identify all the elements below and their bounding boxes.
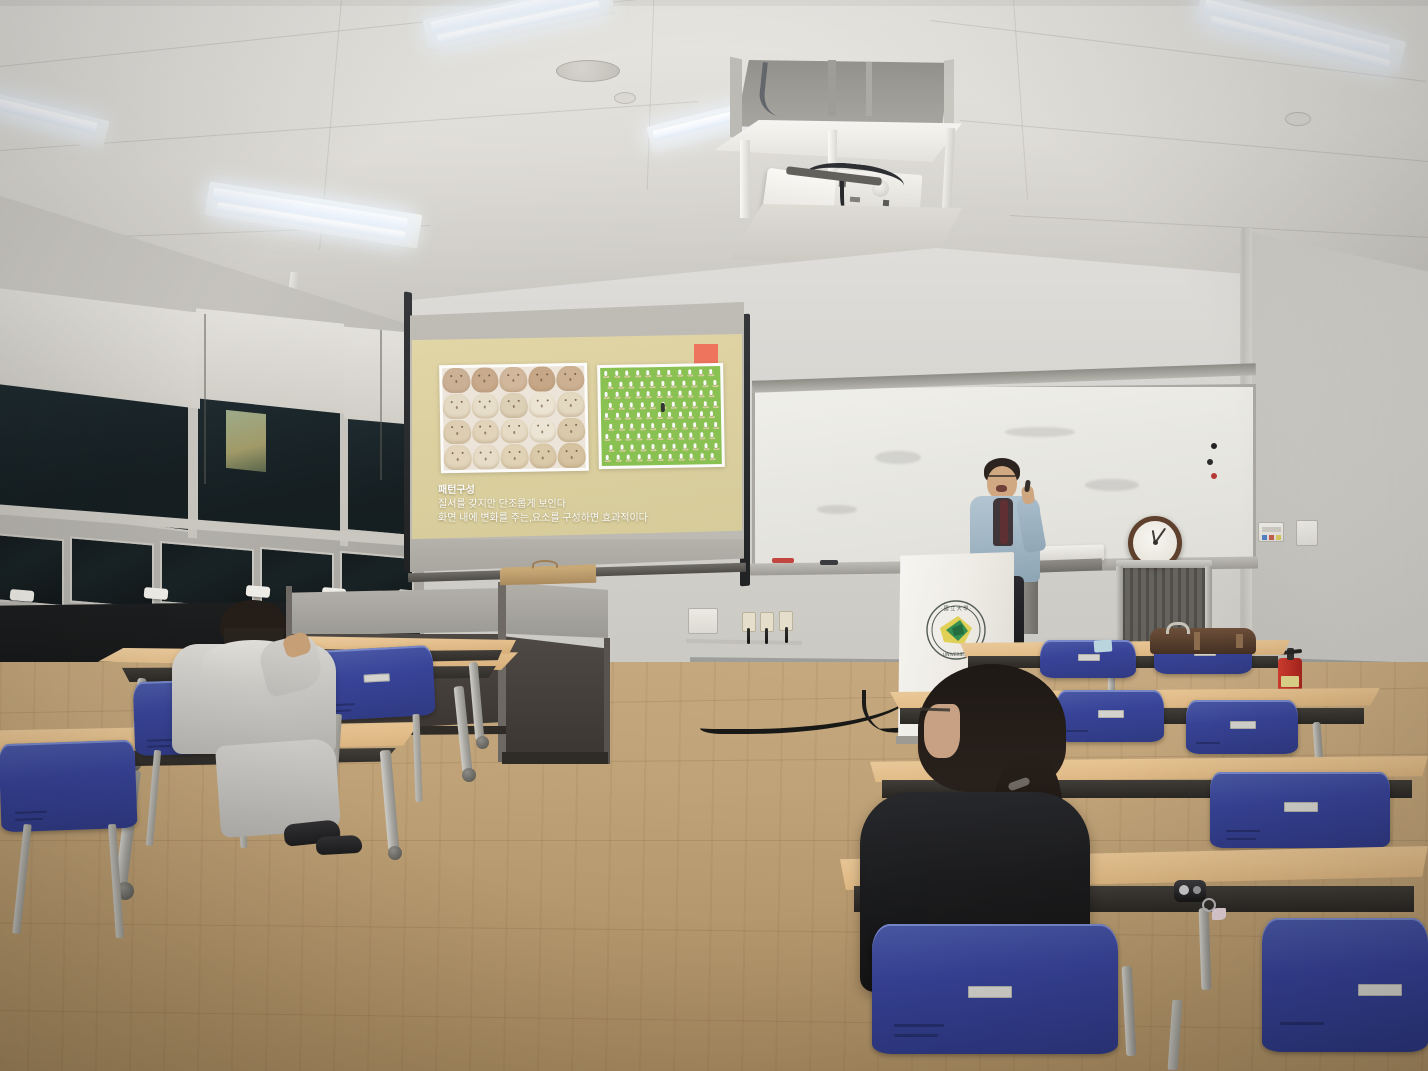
ceiling-sensor (614, 92, 636, 104)
crowd-mat (649, 386, 655, 388)
crowd-mat (713, 405, 719, 407)
chair-vent (1280, 1022, 1324, 1025)
ceiling-projector-lift (700, 52, 990, 267)
chair[interactable] (1262, 918, 1428, 1071)
window-sash (70, 536, 154, 609)
crowd-mat (636, 438, 642, 440)
whiteboard-smudge (875, 451, 921, 464)
crowd-mat (636, 459, 642, 461)
crowd-person (657, 391, 660, 396)
crowd-person (667, 370, 670, 375)
crowd-mat (702, 406, 708, 408)
crowd-mat (691, 385, 697, 387)
projection-screen-assembly: 패턴구성 질서를 갖지만 단조롭게 보인다 화면 내에 변화를 주는,요소를 구… (404, 292, 750, 592)
crowd-person (699, 390, 702, 395)
crowd-mat (693, 448, 699, 450)
crowd-mat (657, 417, 663, 419)
bun (443, 394, 471, 419)
crowd-person (609, 402, 612, 407)
crowd-person (641, 423, 644, 428)
crowd-person (710, 390, 713, 395)
crowd-person (689, 390, 692, 395)
slide-line-2: 질서를 갖지만 단조롭게 보인다 (438, 498, 566, 512)
crowd-mat (677, 396, 683, 398)
crowd-mat (629, 428, 635, 430)
crowd-person (671, 380, 674, 385)
panel-button[interactable] (1276, 535, 1281, 540)
crowd-person (688, 369, 691, 374)
crowd-mat (709, 437, 715, 439)
crowd-mat (615, 439, 621, 441)
wall-access-panel[interactable] (688, 608, 718, 634)
crowd-mat (688, 437, 694, 439)
whiteboard-marker[interactable] (820, 560, 838, 565)
clock-face (1133, 521, 1177, 565)
crowd-mat (678, 417, 684, 419)
panel-display (1262, 527, 1281, 532)
chair-vent (15, 818, 43, 821)
crowd-person (661, 380, 664, 385)
bun (528, 366, 556, 391)
crowd-person (700, 453, 703, 458)
crowd-mat (699, 437, 705, 439)
crowd-mat (645, 375, 651, 377)
crowd-mat (678, 459, 684, 461)
crowd-mat (713, 426, 719, 428)
crowd-mat (702, 385, 708, 387)
cabinet-panel (502, 582, 608, 638)
window-pane-upper (346, 409, 412, 537)
bun (528, 392, 556, 417)
crowd-person (692, 380, 695, 385)
panel-button[interactable] (1262, 535, 1267, 540)
blind-cord (204, 314, 206, 484)
window-exterior-light (226, 410, 266, 472)
crowd-person (700, 432, 703, 437)
crowd-person (703, 380, 706, 385)
wall-control-panel[interactable] (1258, 522, 1284, 542)
bun (471, 393, 499, 418)
lift-post (740, 140, 750, 218)
chair-label (1358, 984, 1402, 996)
classroom-photo: 패턴구성 질서를 갖지만 단조롭게 보인다 화면 내에 변화를 주는,요소를 구… (0, 0, 1428, 1071)
window-handle[interactable] (144, 587, 169, 600)
rack-top-bar (1116, 560, 1212, 568)
crowd-person (669, 454, 672, 459)
crowd-person (709, 369, 712, 374)
crowd-person (605, 413, 608, 418)
whiteboard-smudge (1005, 427, 1075, 437)
crowd-mat (639, 386, 645, 388)
crowd-person (693, 422, 696, 427)
crowd-mat (640, 449, 646, 451)
crowd-mat (666, 375, 672, 377)
crowd-person (658, 454, 661, 459)
crowd-mat (639, 407, 645, 409)
crowd-person (619, 381, 622, 386)
bun (557, 417, 585, 442)
chair-backrest[interactable] (0, 740, 137, 833)
leather-bag (1150, 622, 1256, 654)
projected-slide: 패턴구성 질서를 갖지만 단조롭게 보인다 화면 내에 변화를 주는,요소를 구… (412, 334, 742, 539)
crowd-mat (689, 458, 695, 460)
crowd-person (626, 392, 629, 397)
crowd-mat (608, 428, 614, 430)
projection-screen-surface: 패턴구성 질서를 갖지만 단조롭게 보인다 화면 내에 변화를 주는,요소를 구… (410, 302, 744, 572)
crowd-mat (626, 460, 632, 462)
chair-vent (1196, 742, 1220, 744)
whiteboard-magnet[interactable] (1211, 443, 1217, 449)
key-fob-button[interactable] (1193, 886, 1201, 894)
crowd-person (668, 412, 671, 417)
chair-leg (412, 714, 422, 802)
chair-vent (1226, 830, 1260, 832)
crowd-mat (619, 428, 625, 430)
chair-backrest[interactable] (1186, 700, 1298, 754)
outlet-cable (747, 628, 750, 644)
crowd-person (609, 444, 612, 449)
crowd-mat (671, 406, 677, 408)
bag-strap (1236, 634, 1243, 648)
crowd-person (662, 443, 665, 448)
crowd-mat (703, 427, 709, 429)
glasses-icon (920, 707, 950, 713)
crowd-person (690, 453, 693, 458)
student-shoe (316, 835, 363, 855)
crowd-mat (681, 406, 687, 408)
bun (442, 368, 470, 393)
crowd-mat (667, 438, 673, 440)
crowd-person (657, 412, 660, 417)
crowd-mat (647, 459, 653, 461)
crowd-person (678, 391, 681, 396)
desk-leg (1199, 908, 1212, 990)
chair-vent (15, 811, 47, 814)
bun (472, 419, 500, 444)
lecturer-mouth (996, 485, 1007, 492)
key-charm (1212, 908, 1226, 920)
ceiling-sensor (1285, 112, 1311, 126)
crowd-person (637, 433, 640, 438)
desk-caster (388, 846, 402, 860)
crowd-person (679, 454, 682, 459)
chair-backrest[interactable] (1210, 772, 1390, 848)
crowd-person (636, 391, 639, 396)
chair-vent (894, 1034, 938, 1037)
slide-image-buns (439, 363, 589, 474)
student-in-grey-hoodie (166, 600, 366, 862)
crowd-person (619, 402, 622, 407)
crowd-person (640, 402, 643, 407)
bun (443, 419, 471, 444)
crowd-person (647, 391, 650, 396)
crowd-person (699, 411, 702, 416)
crowd-mat (709, 416, 715, 418)
crowd-mat (603, 376, 609, 378)
crowd-mat (615, 460, 621, 462)
crowd-mat (609, 449, 615, 451)
crowd-person (646, 370, 649, 375)
crowd-person (651, 444, 654, 449)
desk-item (1094, 639, 1113, 652)
crowd-mat (605, 460, 611, 462)
crowd-mat (661, 448, 667, 450)
whiteboard-smudge (817, 505, 857, 514)
crowd-person (679, 433, 682, 438)
crowd-mat (661, 427, 667, 429)
chair-leg (12, 824, 31, 934)
crowd-mat (630, 449, 636, 451)
crowd-person (657, 370, 660, 375)
crowd-person (658, 433, 661, 438)
crowd-person (704, 422, 707, 427)
bun (557, 392, 585, 417)
crowd-person (710, 432, 713, 437)
crowd-mat (646, 417, 652, 419)
bun (471, 367, 499, 392)
crowd-person (615, 392, 618, 397)
crowd-person (641, 444, 644, 449)
desk-leg (469, 662, 485, 740)
crowd-mat (698, 374, 704, 376)
crowd-mat (657, 438, 663, 440)
crowd-mat (629, 407, 635, 409)
bun (556, 366, 584, 391)
lift-strut (866, 62, 872, 116)
crowd-mat (656, 396, 662, 398)
crowd-mat (671, 427, 677, 429)
chair-backrest[interactable] (1262, 918, 1428, 1052)
crowd-person (636, 412, 639, 417)
crowd-mat (604, 439, 610, 441)
window-handle[interactable] (10, 589, 35, 602)
crowd-mat (608, 407, 614, 409)
cabinet-corner-post (604, 638, 610, 764)
bag-strap (1194, 632, 1200, 650)
crowd-person (714, 443, 717, 448)
crowd-mat (625, 418, 631, 420)
crowd-mat (692, 406, 698, 408)
crowd-person (609, 423, 612, 428)
crowd-person (713, 380, 716, 385)
crowd-mat (682, 427, 688, 429)
crowd-mat (618, 407, 624, 409)
chair-label (1078, 654, 1100, 661)
crowd-mat (651, 449, 657, 451)
crowd-mat (699, 416, 705, 418)
crowd-person (672, 401, 675, 406)
bun (472, 445, 500, 470)
bun (558, 443, 586, 468)
crowd-mat (625, 439, 631, 441)
crowd-person (678, 412, 681, 417)
crowd-mat (710, 458, 716, 460)
crowd-mat (712, 384, 718, 386)
crowd-mat (656, 375, 662, 377)
desk-caster (476, 736, 489, 749)
crowd-mat (619, 449, 625, 451)
crowd-person (651, 402, 654, 407)
chair[interactable] (872, 924, 1122, 1071)
whiteboard-marker[interactable] (772, 558, 794, 563)
outlet-cable (785, 627, 788, 643)
crowd-person (640, 381, 643, 386)
crowd-mat (636, 417, 642, 419)
crowd-person (626, 434, 629, 439)
crowd-person (605, 434, 608, 439)
crowd-mat (628, 386, 634, 388)
crowd-mat (698, 395, 704, 397)
crowd-mat (667, 396, 673, 398)
crowd-person (672, 422, 675, 427)
crowd-mat (687, 374, 693, 376)
window-handle[interactable] (246, 585, 271, 598)
chair[interactable] (0, 742, 140, 962)
bun (499, 367, 527, 392)
crowd-person (647, 433, 650, 438)
bun (501, 444, 529, 469)
slide-heading: 패턴구성 (438, 484, 475, 498)
crowd-person (636, 370, 639, 375)
crowd-mat (615, 418, 621, 420)
crowd-mat (708, 374, 714, 376)
chair-leg (108, 824, 124, 938)
chair-label (364, 673, 390, 682)
crowd-person (683, 422, 686, 427)
crowd-standout-person (661, 403, 665, 412)
bun (443, 445, 471, 470)
crowd-person (711, 453, 714, 458)
bag-handle (1166, 622, 1190, 634)
crowd-person (620, 423, 623, 428)
crowd-person (630, 423, 633, 428)
crowd-person (615, 371, 618, 376)
crowd-person (678, 370, 681, 375)
whiteboard-magnet[interactable] (1207, 459, 1213, 465)
crowd-person (689, 432, 692, 437)
crowd-mat (618, 386, 624, 388)
crowd-mat (625, 397, 631, 399)
slide-image-crowd (597, 363, 725, 469)
lift-frame-post (730, 57, 742, 140)
crowd-mat (640, 428, 646, 430)
desk-caster (462, 768, 476, 782)
lift-shelf (714, 120, 962, 162)
crowd-mat (624, 376, 630, 378)
crowd-person (668, 433, 671, 438)
crowd-person (650, 381, 653, 386)
crowd-person (689, 411, 692, 416)
whiteboard-smudge (1085, 479, 1139, 491)
whiteboard-magnet[interactable] (1211, 473, 1217, 479)
crowd-mat (667, 417, 673, 419)
bun (529, 418, 557, 443)
crowd-mat (709, 395, 715, 397)
crowd-person (605, 392, 608, 397)
crowd-mat (650, 407, 656, 409)
cardboard-tray (500, 567, 596, 586)
crowd-mat (635, 396, 641, 398)
crowd-person (710, 411, 713, 416)
crowd-mat (650, 428, 656, 430)
crowd-mat (672, 448, 678, 450)
crowd-mat (635, 375, 641, 377)
crowd-person (693, 443, 696, 448)
crowd-mat (607, 386, 613, 388)
crowd-mat (703, 448, 709, 450)
crowd-person (630, 444, 633, 449)
crowd-mat (657, 459, 663, 461)
blind-cord (380, 330, 382, 480)
crowd-person (703, 401, 706, 406)
chair-vent (894, 1024, 944, 1027)
crowd-mat (668, 459, 674, 461)
crowd-person (651, 423, 654, 428)
crowd-field (600, 366, 722, 466)
crowd-mat (646, 396, 652, 398)
crowd-person (693, 401, 696, 406)
chair-label (968, 986, 1012, 998)
crowd-mat (688, 395, 694, 397)
crowd-person (714, 401, 717, 406)
panel-button[interactable] (1269, 535, 1274, 540)
crowd-person (714, 422, 717, 427)
bun (500, 393, 528, 418)
crowd-person (615, 413, 618, 418)
slide-line-3: 화면 내에 변화를 주는,요소를 구성하면 효과적이다 (438, 512, 648, 526)
crowd-mat (677, 375, 683, 377)
crowd-mat (670, 385, 676, 387)
crowd-person (682, 380, 685, 385)
ceiling-speaker-grille (556, 60, 620, 82)
chair-leg (146, 750, 161, 846)
crowd-person (668, 391, 671, 396)
crowd-mat (604, 397, 610, 399)
crowd-mat (660, 385, 666, 387)
chair-backrest[interactable] (872, 924, 1118, 1054)
lecturer-tie (1000, 500, 1008, 544)
crowd-mat (681, 385, 687, 387)
crowd-person (672, 443, 675, 448)
window-blind (196, 308, 344, 414)
crowd-person (626, 413, 629, 418)
crowd-person (630, 402, 633, 407)
crowd-mat (614, 397, 620, 399)
light-switch[interactable] (1296, 520, 1318, 546)
crowd-mat (682, 448, 688, 450)
crowd-person (616, 434, 619, 439)
crowd-person (620, 444, 623, 449)
crowd-mat (688, 416, 694, 418)
crowd-person (625, 371, 628, 376)
chair[interactable] (1186, 700, 1302, 764)
clock-center (1153, 540, 1158, 545)
crowd-mat (646, 438, 652, 440)
crowd-person (704, 443, 707, 448)
crowd-person (648, 454, 651, 459)
chair-vent (1226, 838, 1256, 840)
crowd-mat (699, 458, 705, 460)
window-pane-upper (196, 390, 344, 538)
crowd-person (699, 369, 702, 374)
glasses-icon (987, 475, 1017, 480)
crowd-person (682, 401, 685, 406)
crowd-person (616, 455, 619, 460)
crowd-mat (604, 418, 610, 420)
buns-grid (442, 366, 586, 470)
svg-text:· 國 立 大 學 ·: · 國 立 大 學 · (940, 605, 972, 612)
lift-strut (828, 60, 836, 116)
